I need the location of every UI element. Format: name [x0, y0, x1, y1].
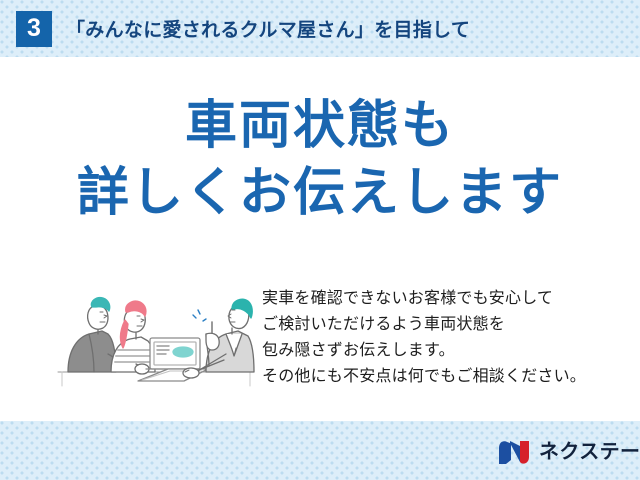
body-copy: 実車を確認できないお客様でも安心して ご検討いただけるよう車両状態を 包み隠さず…: [262, 286, 622, 390]
body-copy-line-3: 包み隠さずお伝えします。: [262, 338, 622, 364]
promo-banner: 3 「みんなに愛されるクルマ屋さん」を目指して 車両状態も 詳しくお伝えします: [0, 0, 640, 480]
headline-line-1: 車両状態も: [0, 96, 640, 157]
header-title: 「みんなに愛されるクルマ屋さん」を目指して: [66, 15, 470, 42]
consultation-illustration: [56, 276, 256, 388]
body-copy-line-1: 実車を確認できないお客様でも安心して: [262, 286, 622, 312]
body-copy-line-2: ご検討いただけるよう車両状態を: [262, 312, 622, 338]
brand-logo: ネクステージ: [498, 437, 640, 467]
headline-line-2: 詳しくお伝えします: [0, 163, 640, 224]
brand-logo-text: ネクステージ: [539, 442, 640, 462]
body-copy-line-4: その他にも不安点は何でもご相談ください。: [262, 364, 622, 390]
nextage-n-mark-icon: [498, 440, 532, 465]
headline: 車両状態も 詳しくお伝えします: [0, 96, 640, 225]
step-number-badge: 3: [16, 11, 52, 47]
header: 3 「みんなに愛されるクルマ屋さん」を目指して: [0, 0, 640, 57]
